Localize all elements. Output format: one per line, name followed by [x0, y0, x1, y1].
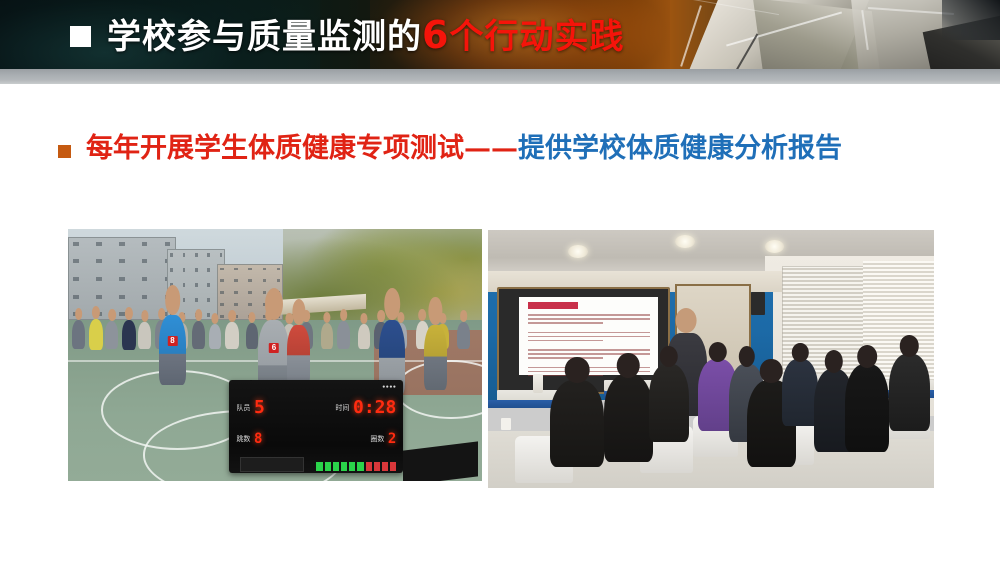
- head-shape: [460, 310, 468, 322]
- spectator: [209, 324, 221, 350]
- desk-blue-top: [488, 400, 559, 408]
- head-shape: [108, 309, 116, 321]
- bib-number: 8: [167, 336, 177, 346]
- spectator: [337, 321, 350, 349]
- slide-canvas: 学校参与质量监测的6个行动实践 每年开展学生体质健康专项测试——提供学校体质健康…: [0, 0, 1000, 562]
- head-shape: [125, 307, 133, 320]
- square-bullet-icon: [70, 26, 91, 47]
- scoreboard-control-panel: [240, 457, 305, 472]
- speaker-icon: [751, 292, 765, 315]
- head-shape: [377, 310, 385, 322]
- head-shape: [760, 359, 783, 384]
- attendee: [604, 374, 653, 462]
- head-shape: [824, 350, 842, 373]
- head-shape: [92, 306, 100, 319]
- head-shape: [323, 312, 330, 323]
- head-shape: [228, 310, 236, 322]
- scoreboard-brand: ●●●●: [382, 384, 396, 390]
- head-shape: [792, 343, 808, 362]
- subtitle-blue-text: 提供学校体质健康分析报告: [518, 133, 842, 164]
- head-shape: [211, 313, 218, 324]
- scoreboard-row-time: 队员 5 时间 0:28: [236, 399, 396, 417]
- head-shape: [340, 309, 348, 321]
- photo-meeting-room-report: [488, 230, 934, 488]
- subtitle: 每年开展学生体质健康专项测试——提供学校体质健康分析报告: [58, 133, 842, 164]
- head-shape: [360, 313, 367, 324]
- spectator: [105, 321, 118, 349]
- attendee: [889, 354, 929, 431]
- head-shape: [265, 288, 283, 320]
- page-title-text: 学校参与质量监测的6个行动实践: [107, 16, 624, 54]
- scoreboard-value-time: 0:28: [353, 399, 396, 417]
- spectator: [192, 321, 205, 349]
- page-title: 学校参与质量监测的6个行动实践: [70, 0, 624, 69]
- spectator: [246, 323, 258, 350]
- student-jumper: [424, 325, 447, 391]
- bib-number: 6: [269, 343, 279, 353]
- scoreboard-led-strip: [316, 462, 396, 470]
- head-shape: [141, 310, 148, 322]
- header-divider-bar: [0, 69, 1000, 84]
- spectator: [138, 322, 150, 349]
- head-shape: [429, 297, 442, 325]
- head-shape: [565, 357, 590, 383]
- slide-title-bar: [528, 302, 578, 309]
- scoreboard-value-count: 8: [254, 432, 262, 446]
- head-shape: [738, 346, 754, 368]
- spectator: [225, 322, 238, 349]
- spectator: [321, 323, 333, 350]
- ceiling-light-icon: [675, 235, 695, 248]
- spectator: [358, 324, 370, 350]
- paper-cup: [501, 418, 511, 430]
- head-shape: [659, 346, 677, 368]
- head-shape: [900, 335, 918, 357]
- scoreboard-label-round: 圈数: [370, 436, 388, 443]
- photo-schoolyard-jump-rope: 8 6 ●●●● 队员 5 时间 0:28: [68, 229, 482, 481]
- spectator: [457, 322, 470, 349]
- building-windows: [73, 242, 170, 317]
- scoreboard-label-time: 时间: [335, 405, 353, 412]
- scoreboard-row-count: 跳数 8 圈数 2: [236, 432, 396, 446]
- spectator: [122, 320, 136, 351]
- student-jumper: 8: [159, 315, 186, 386]
- spectator: [72, 320, 85, 349]
- scoreboard-label-count: 跳数: [236, 436, 254, 443]
- page-title-part2: 个行动实践: [449, 17, 624, 57]
- antenna-icon: [378, 380, 380, 381]
- header-banner: 学校参与质量监测的6个行动实践: [0, 0, 1000, 69]
- page-title-number: 6: [422, 13, 449, 57]
- head-shape: [419, 309, 427, 321]
- attendee: [845, 364, 890, 452]
- digital-scoreboard: ●●●● 队员 5 时间 0:28 跳数 8 圈数 2: [229, 380, 403, 473]
- head-shape: [676, 308, 697, 333]
- header-dark-corner: [942, 0, 1000, 40]
- head-shape: [195, 309, 203, 321]
- scoreboard-value-round: 2: [388, 432, 396, 446]
- student-jumper: [287, 325, 310, 385]
- scoreboard-label-member: 队员: [236, 405, 254, 412]
- square-bullet-icon: [58, 145, 71, 158]
- head-shape: [249, 312, 256, 323]
- head-shape: [75, 308, 83, 320]
- background-building: [68, 237, 176, 320]
- spectator: [89, 319, 103, 350]
- attendee: [782, 359, 818, 426]
- head-shape: [165, 285, 181, 315]
- head-shape: [708, 342, 726, 362]
- page-title-part1: 学校参与质量监测的: [107, 17, 422, 57]
- attendee: [550, 380, 604, 468]
- head-shape: [857, 345, 877, 368]
- head-shape: [617, 353, 640, 378]
- scoreboard-value-member: 5: [254, 399, 265, 417]
- head-shape: [384, 288, 400, 320]
- attendee: [649, 364, 689, 441]
- thermos-bottle: [533, 374, 544, 392]
- subtitle-text: 每年开展学生体质健康专项测试——提供学校体质健康分析报告: [86, 133, 842, 164]
- subtitle-red-text: 每年开展学生体质健康专项测试——: [86, 133, 518, 164]
- antenna-icon: [250, 380, 252, 381]
